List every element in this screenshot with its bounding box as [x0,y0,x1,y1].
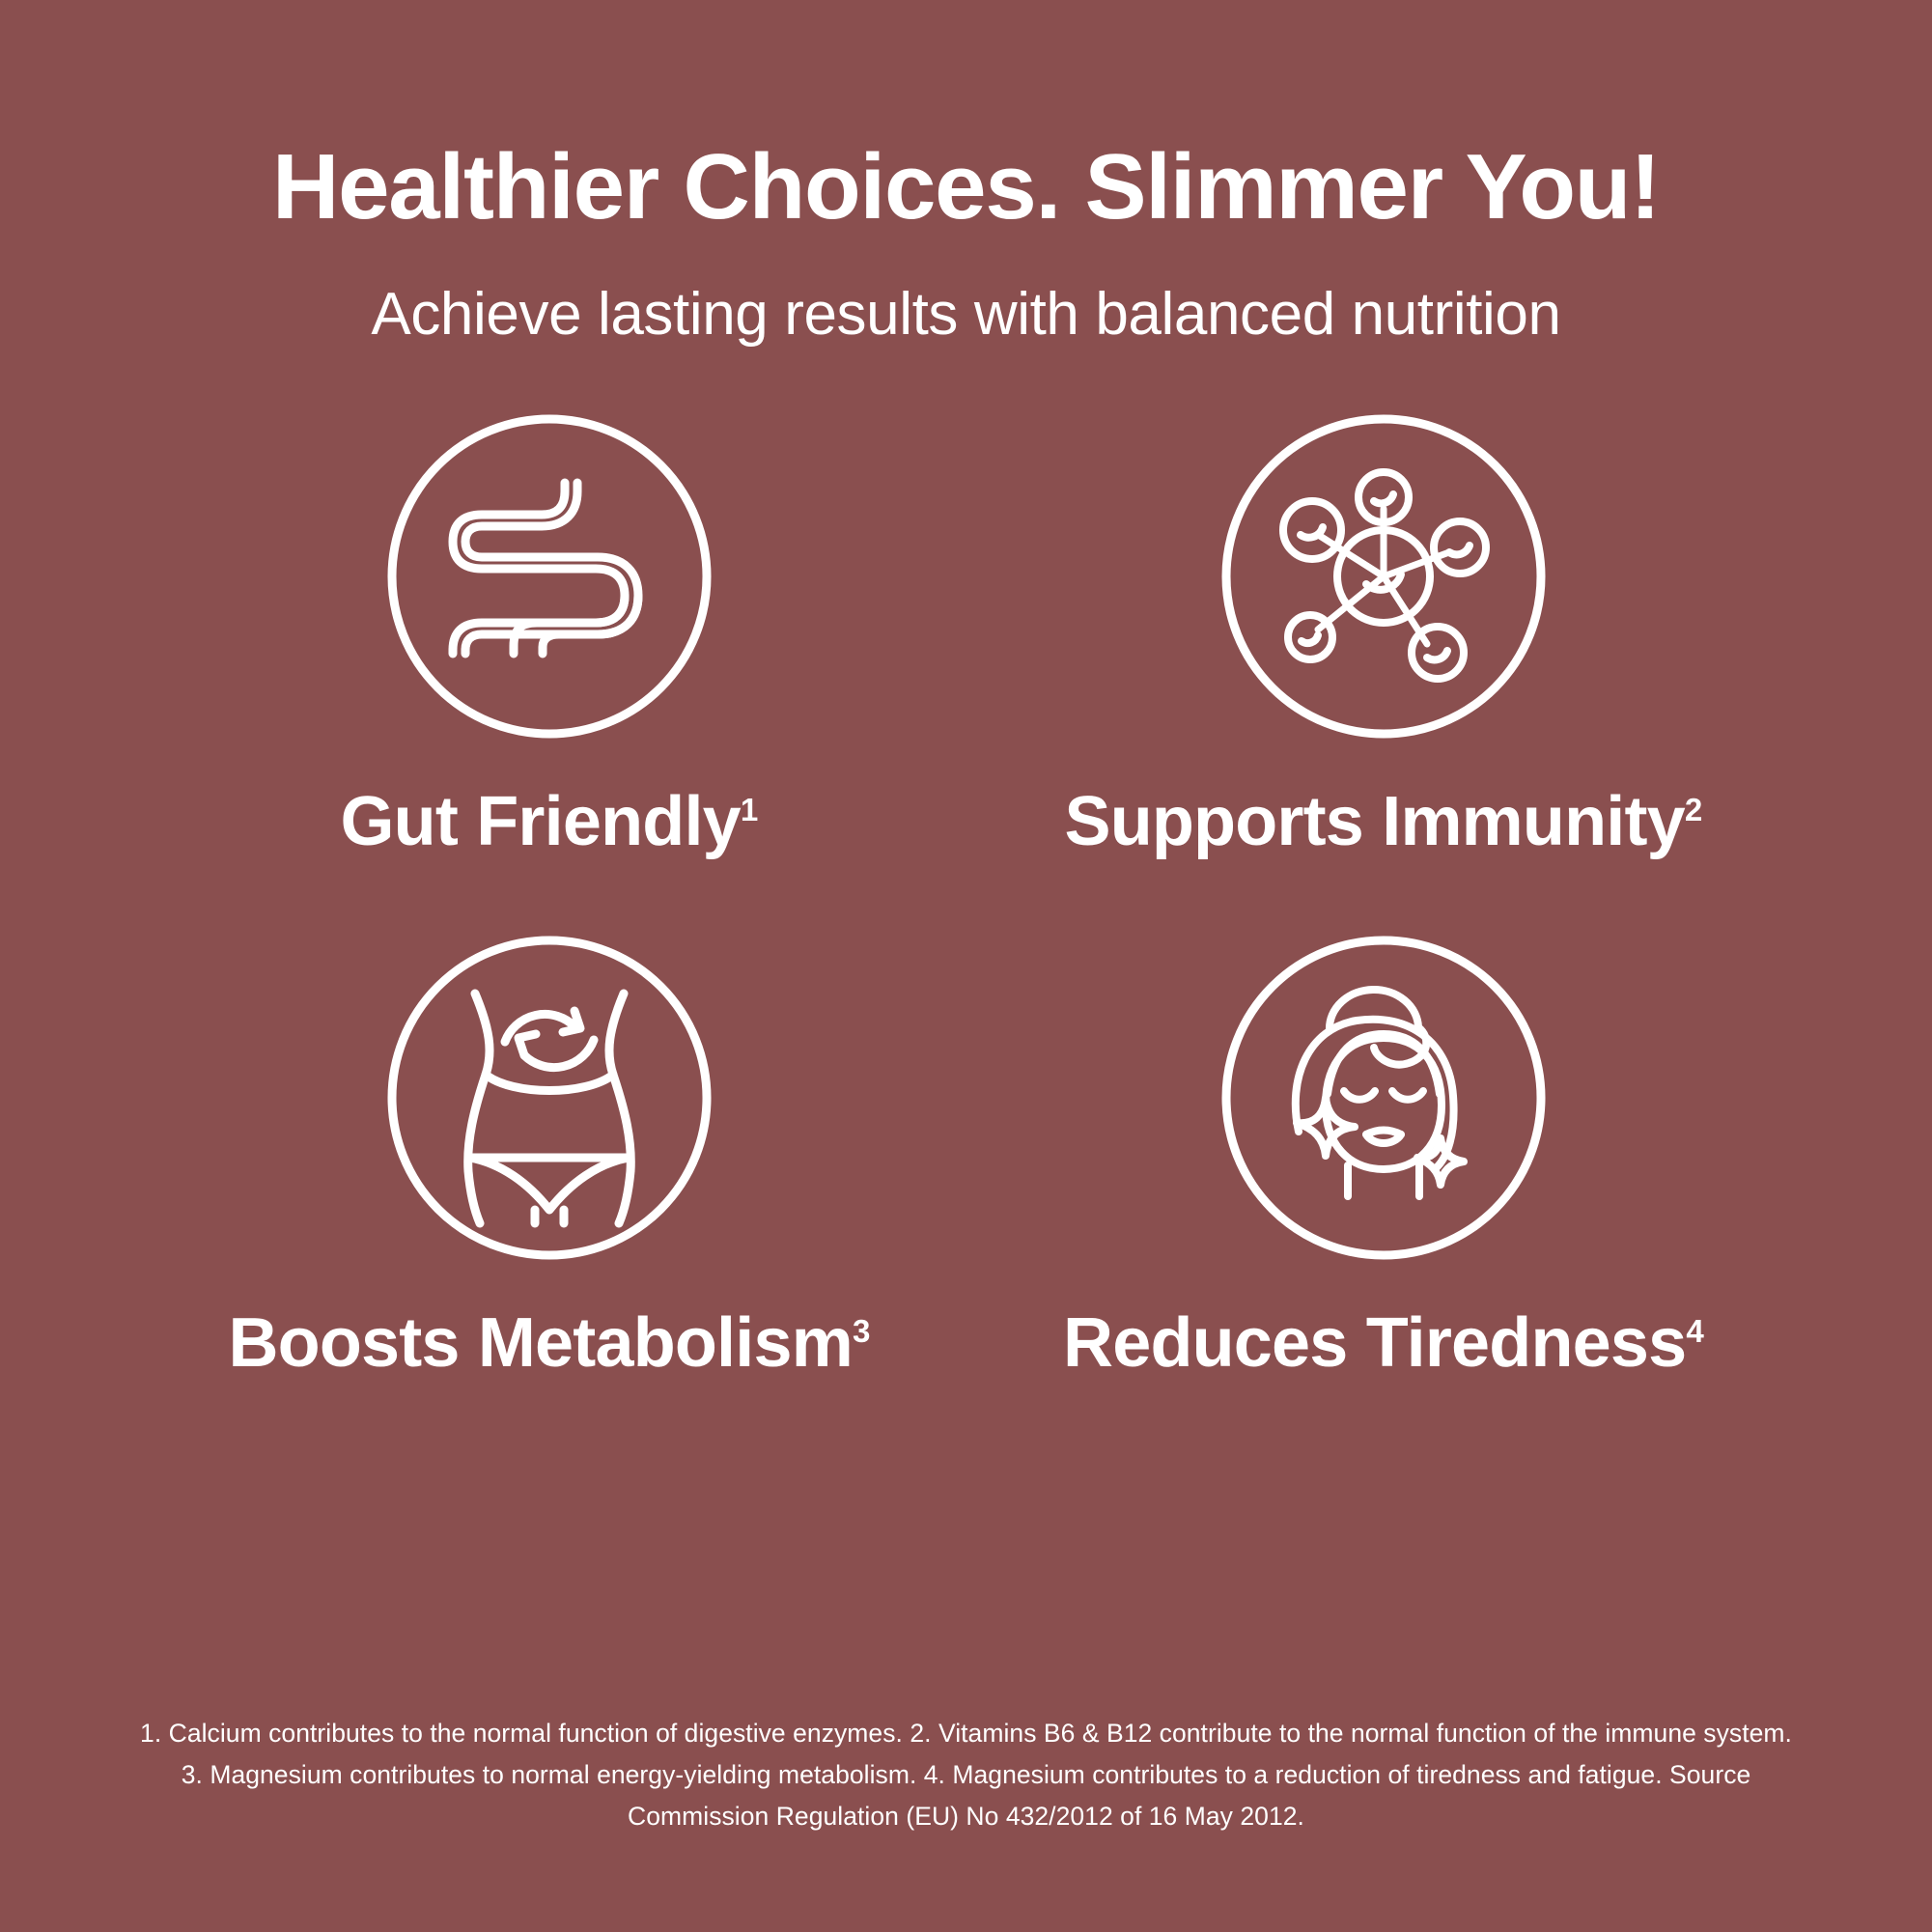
page-subtitle: Achieve lasting results with balanced nu… [0,285,1932,345]
footnotes-disclaimer: 1. Calcium contributes to the normal fun… [131,1713,1802,1837]
feature-label: Reduces Tiredness4 [1063,1308,1703,1378]
feature-reduces-tiredness: Reduces Tiredness4 [978,934,1789,1378]
feature-supports-immunity: Supports Immunity2 [978,412,1789,856]
header: Healthier Choices. Slimmer You! Achieve … [0,0,1932,345]
feature-label: Boosts Metabolism3 [228,1308,869,1378]
feature-grid: Gut Friendly1 [155,412,1778,1378]
feature-label-text: Supports Immunity [1064,783,1684,860]
rested-woman-face-icon [1219,934,1548,1262]
feature-footnote-marker: 2 [1685,793,1702,828]
feature-label: Supports Immunity2 [1064,787,1701,856]
feature-footnote-marker: 3 [853,1314,870,1350]
immunity-molecule-network-icon [1219,412,1548,741]
feature-footnote-marker: 1 [741,793,758,828]
feature-label-text: Gut Friendly [340,783,740,860]
feature-gut-friendly: Gut Friendly1 [144,412,955,856]
slim-waist-body-metabolism-icon [385,934,714,1262]
feature-boosts-metabolism: Boosts Metabolism3 [144,934,955,1378]
page-title: Healthier Choices. Slimmer You! [0,141,1932,234]
feature-label: Gut Friendly1 [340,787,757,856]
feature-footnote-marker: 4 [1686,1314,1703,1350]
promo-poster: Healthier Choices. Slimmer You! Achieve … [0,0,1932,1932]
intestine-gut-icon [385,412,714,741]
feature-label-text: Reduces Tiredness [1063,1304,1686,1382]
feature-label-text: Boosts Metabolism [228,1304,853,1382]
